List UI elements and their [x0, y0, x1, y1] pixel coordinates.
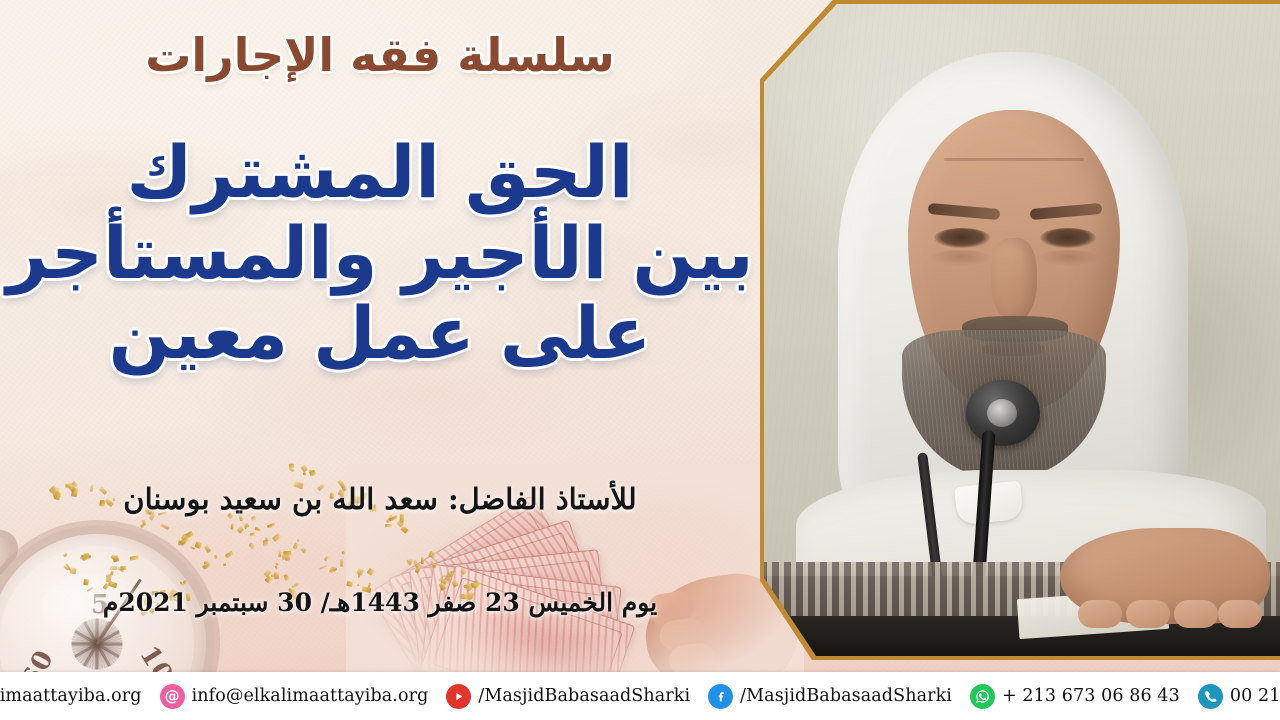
at-icon: @: [160, 684, 185, 709]
footer-item-whatsapp[interactable]: + 213 673 06 86 43: [961, 684, 1189, 709]
speaker-photo-frame: [760, 0, 1280, 660]
footer-item-phone[interactable]: 00 213 29 20 22 12: [1189, 684, 1280, 709]
title-line-2: بين الأجير والمستأجر: [0, 213, 760, 294]
footer-phone-text: 00 213 29 20 22 12: [1230, 686, 1280, 706]
footer-item-youtube[interactable]: /MasjidBabasaadSharki: [437, 684, 699, 709]
footer-item-website[interactable]: www.elkalimaattayiba.org: [0, 684, 151, 709]
speaker-hands: [1060, 528, 1270, 624]
footer-website-text: www.elkalimaattayiba.org: [0, 686, 142, 706]
title-line-1: الحق المشترك: [0, 132, 760, 213]
footer-youtube-text: /MasjidBabasaadSharki: [478, 686, 690, 706]
eyebrow-right: [1030, 203, 1103, 220]
title-line-3: على عمل معين: [0, 293, 760, 374]
under-eye-right: [1038, 250, 1100, 266]
series-label: سلسلة فقه الإجارات: [0, 30, 760, 81]
youtube-icon: [446, 684, 471, 709]
facebook-icon: [708, 684, 733, 709]
lecture-date: يوم الخميس 23 صفر 1443هـ/ 30 سبتمبر 2021…: [0, 588, 760, 617]
footer-facebook-text: /MasjidBabasaadSharki: [740, 686, 952, 706]
forehead-line: [944, 158, 1084, 161]
footer-item-email[interactable]: @ info@elkalimaattayiba.org: [151, 684, 438, 709]
speaker-photo: [760, 0, 1280, 660]
footer-whatsapp-text: + 213 673 06 86 43: [1002, 686, 1180, 706]
eyebrow-left: [928, 203, 1001, 220]
eye-right: [1040, 228, 1096, 248]
footer-email-text: info@elkalimaattayiba.org: [192, 686, 429, 706]
phone-icon: [1198, 684, 1223, 709]
page-title: الحق المشترك بين الأجير والمستأجر على عم…: [0, 132, 760, 374]
eye-left: [934, 228, 990, 248]
whatsapp-icon: [970, 684, 995, 709]
speaker-name: للأستاذ الفاضل: سعد الله بن سعيد بوسنان: [0, 482, 760, 516]
microphone-icon: [966, 380, 1040, 446]
nose: [991, 238, 1037, 322]
contact-footer-bar: www.elkalimaattayiba.org @ info@elkalima…: [0, 672, 1280, 720]
under-eye-left: [930, 250, 992, 266]
lecture-poster: 60 5 10 15 سلسلة فقه الإجارات الحق المشت…: [0, 0, 1280, 720]
footer-item-facebook[interactable]: /MasjidBabasaadSharki: [699, 684, 961, 709]
